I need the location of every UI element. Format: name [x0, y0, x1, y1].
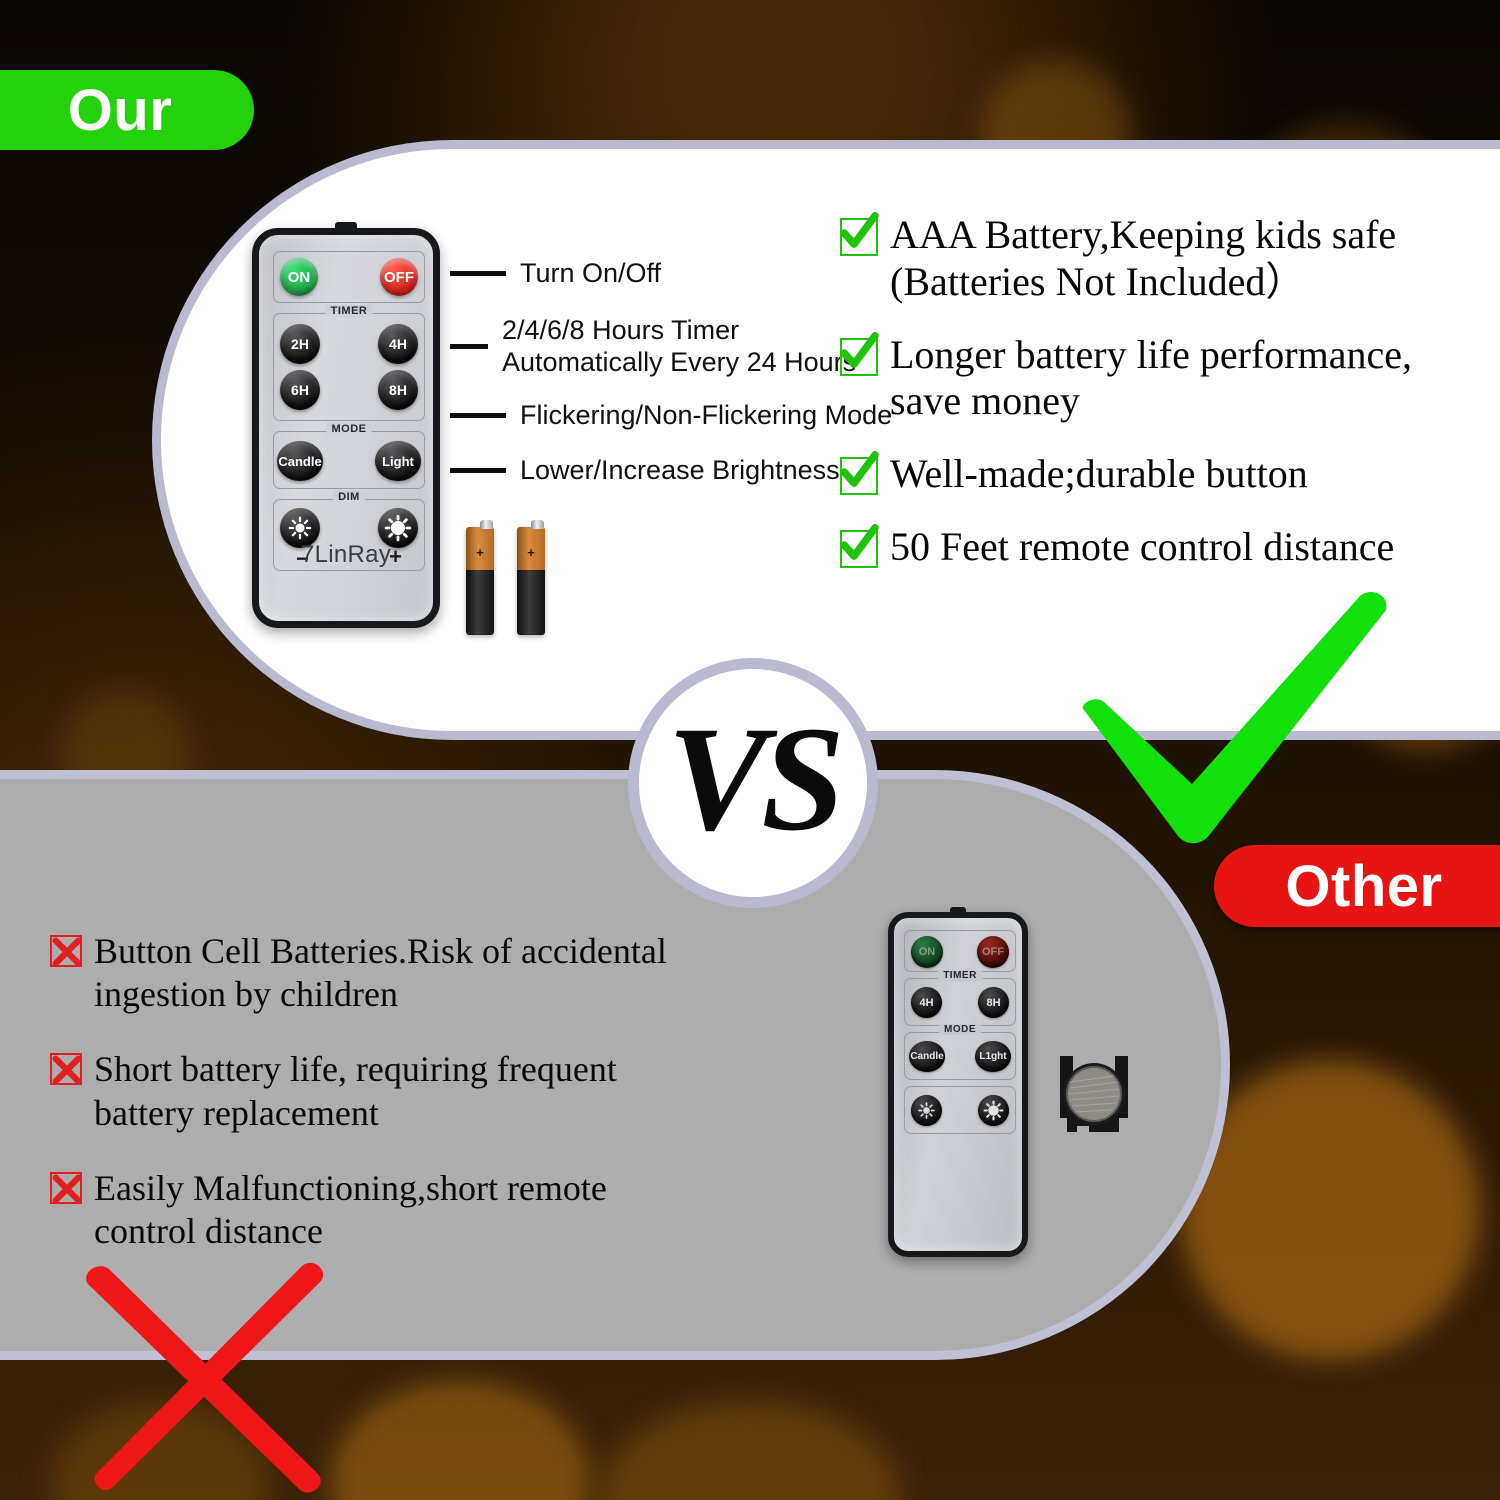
timer-4h-label: 4H [389, 336, 407, 352]
pro-text: 50 Feet remote control distance [890, 524, 1394, 571]
remote-ir-nub [335, 222, 357, 231]
power-button-group: ON OFF [904, 930, 1016, 972]
big-check-icon [1060, 588, 1420, 858]
cross-glyph [50, 1053, 84, 1087]
pro-text: AAA Battery,Keeping kids safe (Batteries… [890, 212, 1396, 306]
check-glyph [838, 524, 880, 566]
check-glyph [838, 212, 880, 254]
mode-group-label: MODE [939, 1024, 981, 1035]
battery-terminal [531, 520, 544, 529]
dim-group-label: DIM [333, 491, 365, 503]
callout-text: 2/4/6/8 Hours Timer Automatically Every … [502, 315, 856, 379]
timer-6h-label: 6H [291, 382, 309, 398]
battery-body [517, 570, 545, 635]
timer-8h-label: 8H [389, 382, 407, 398]
pro-item: Longer battery life performance, save mo… [840, 332, 1490, 426]
callout-text: Turn On/Off [520, 258, 661, 290]
bokeh-blob [600, 1400, 900, 1500]
con-item: Short battery life, requiring frequent b… [50, 1048, 790, 1134]
our-remote-control: ON OFF TIMER 2H 4H 6H 8H MODE Cand [252, 228, 440, 628]
sun-small-icon [917, 1101, 936, 1120]
mode-candle-label: Candle [278, 454, 321, 469]
battery-body [466, 570, 494, 635]
check-icon [840, 218, 878, 256]
other-remote-control: ON OFF TIMER 4H 8H MODE Candle L1ght [888, 912, 1028, 1257]
battery-plus-label: + [466, 546, 494, 559]
timer-2h-label: 2H [291, 336, 309, 352]
callout-text: Flickering/Non-Flickering Mode [520, 400, 892, 432]
timer-group-label: TIMER [938, 970, 982, 981]
our-badge-label: Our [68, 77, 173, 144]
remote-brand-label: 7LinRay [259, 541, 433, 569]
power-off-label: OFF [384, 269, 414, 286]
cross-glyph [50, 1172, 84, 1206]
infographic-canvas: Our ON OFF TIMER 2H 4H 6H 8H [0, 0, 1500, 1500]
coin-cell-battery-holder [1048, 1042, 1140, 1152]
timer-6h-button[interactable]: 6H [280, 370, 320, 410]
timer-button-group: TIMER 4H 8H [904, 978, 1016, 1026]
callout-brightness: Lower/Increase Brightness [450, 455, 840, 487]
callout-text: Lower/Increase Brightness [520, 455, 840, 487]
callout-leader-line [450, 271, 506, 276]
timer-8h-button[interactable]: 8H [978, 987, 1009, 1018]
battery-terminal [480, 520, 493, 529]
timer-8h-label: 8H [986, 997, 1000, 1009]
power-on-label: ON [919, 946, 936, 958]
pro-text: Well-made;durable button [890, 451, 1308, 498]
callout-leader-line [450, 413, 506, 418]
cross-icon [50, 1172, 82, 1204]
cross-icon [50, 1053, 82, 1085]
remote-ir-nub [950, 907, 966, 914]
pros-list: AAA Battery,Keeping kids safe (Batteries… [840, 212, 1490, 571]
pro-text: Longer battery life performance, save mo… [890, 332, 1412, 426]
power-on-button[interactable]: ON [911, 936, 943, 968]
mode-light-label: L1ght [979, 1051, 1006, 1062]
mode-light-button[interactable]: Light [375, 441, 421, 481]
callout-turn-on-off: Turn On/Off [450, 258, 661, 290]
power-off-label: OFF [982, 946, 1004, 958]
battery-plus-label: + [517, 546, 545, 559]
pro-item: Well-made;durable button [840, 451, 1490, 498]
mode-light-label: Light [382, 454, 414, 469]
power-on-label: ON [288, 269, 311, 286]
power-on-button[interactable]: ON [280, 258, 318, 296]
callout-leader-line [450, 344, 488, 349]
con-item: Easily Malfunctioning,short remote contr… [50, 1167, 790, 1253]
other-badge-label: Other [1285, 853, 1442, 920]
mode-candle-button[interactable]: Candle [277, 441, 323, 481]
mode-candle-button[interactable]: Candle [909, 1041, 945, 1072]
our-badge: Our [0, 70, 254, 150]
check-glyph [838, 451, 880, 493]
timer-8h-button[interactable]: 8H [378, 370, 418, 410]
timer-4h-button[interactable]: 4H [911, 987, 942, 1018]
timer-group-label: TIMER [326, 305, 373, 317]
con-text: Button Cell Batteries.Risk of accidental… [94, 930, 667, 1016]
dim-increase-button[interactable] [978, 1095, 1009, 1126]
dim-button-group [904, 1086, 1016, 1134]
cons-list: Button Cell Batteries.Risk of accidental… [50, 930, 790, 1253]
cross-icon [50, 935, 82, 967]
timer-4h-button[interactable]: 4H [378, 324, 418, 364]
power-off-button[interactable]: OFF [977, 936, 1009, 968]
mode-group-label: MODE [327, 423, 372, 435]
sun-small-icon [287, 515, 313, 541]
cross-glyph [50, 935, 84, 969]
sun-large-icon [983, 1100, 1004, 1121]
callout-timer: 2/4/6/8 Hours Timer Automatically Every … [450, 315, 856, 379]
pro-item: AAA Battery,Keeping kids safe (Batteries… [840, 212, 1490, 306]
sun-large-icon [384, 514, 412, 542]
check-glyph [838, 332, 880, 374]
vs-label: VS [667, 704, 838, 854]
vs-badge: VS [628, 658, 878, 908]
callout-leader-line [450, 468, 506, 473]
aaa-battery: + [517, 527, 545, 635]
power-off-button[interactable]: OFF [380, 258, 418, 296]
mode-candle-label: Candle [910, 1051, 943, 1062]
check-icon [840, 338, 878, 376]
mode-button-group: MODE Candle Light [273, 431, 425, 489]
timer-button-group: TIMER 2H 4H 6H 8H [273, 313, 425, 421]
check-icon [840, 530, 878, 568]
con-item: Button Cell Batteries.Risk of accidental… [50, 930, 790, 1016]
mode-button-group: MODE Candle L1ght [904, 1032, 1016, 1080]
big-cross-icon [66, 1248, 346, 1498]
aaa-battery: + [466, 527, 494, 635]
callout-mode: Flickering/Non-Flickering Mode [450, 400, 892, 432]
timer-2h-button[interactable]: 2H [280, 324, 320, 364]
power-button-group: ON OFF [273, 251, 425, 303]
con-text: Easily Malfunctioning,short remote contr… [94, 1167, 607, 1253]
con-text: Short battery life, requiring frequent b… [94, 1048, 617, 1134]
dim-lower-button[interactable] [911, 1095, 942, 1126]
bokeh-blob [330, 1380, 590, 1500]
timer-4h-label: 4H [919, 997, 933, 1009]
check-icon [840, 457, 878, 495]
pro-item: 50 Feet remote control distance [840, 524, 1490, 571]
mode-light-button[interactable]: L1ght [975, 1041, 1011, 1072]
